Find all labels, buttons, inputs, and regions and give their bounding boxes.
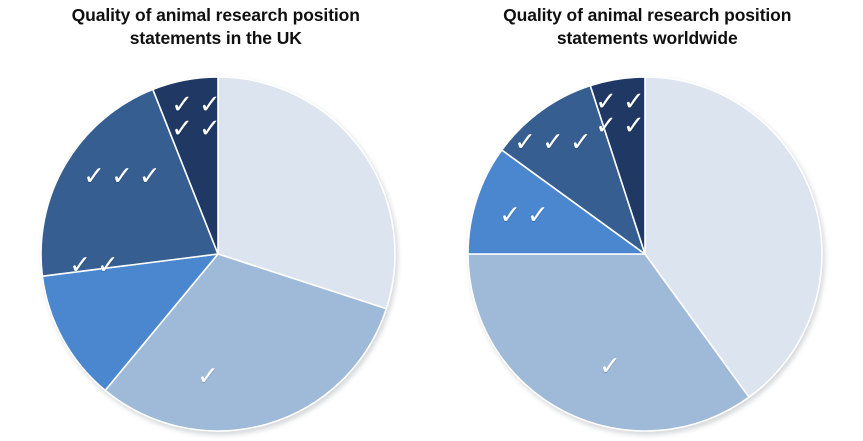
panel-worldwide: Quality of animal research position stat… [432,0,863,441]
chart-title-uk: Quality of animal research position stat… [0,4,432,50]
chart-title-worldwide-line2: statements worldwide [432,27,863,50]
pie-chart-figure: Quality of animal research position stat… [0,0,863,441]
panel-uk: Quality of animal research position stat… [0,0,432,441]
pie-uk [40,76,396,432]
pie-worldwide [467,76,823,432]
pie-worldwide-svg [467,76,823,432]
chart-title-uk-line1: Quality of animal research position [0,4,432,27]
chart-title-uk-line2: statements in the UK [0,27,432,50]
chart-title-worldwide: Quality of animal research position stat… [432,4,863,50]
pie-uk-svg [40,76,396,432]
chart-title-worldwide-line1: Quality of animal research position [432,4,863,27]
